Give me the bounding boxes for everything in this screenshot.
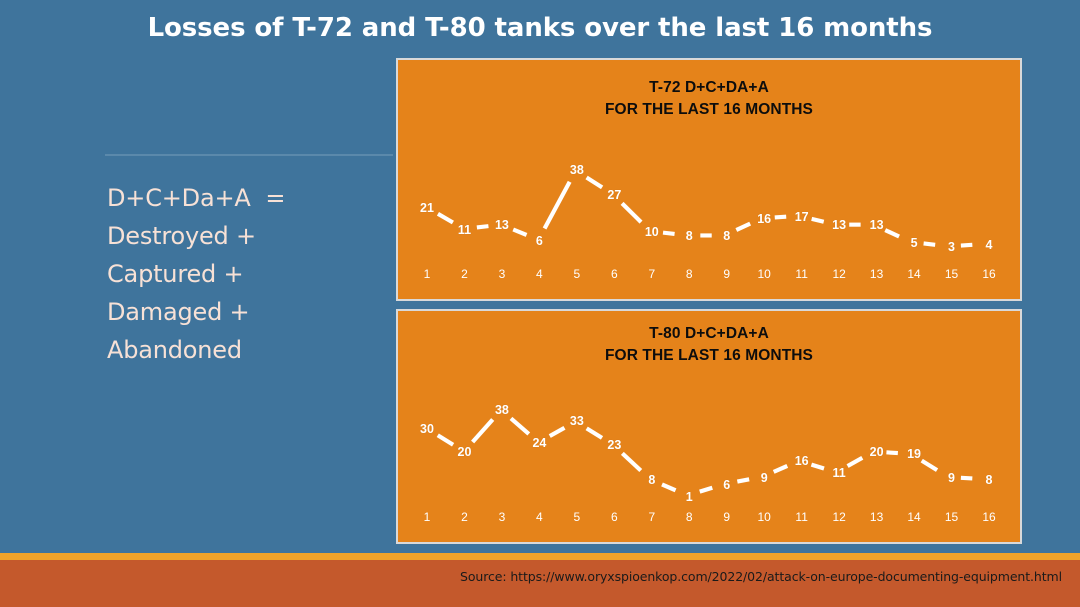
x-tick-label: 6 [611,510,618,524]
x-tick-label: 11 [795,510,807,524]
x-tick-label: 3 [499,267,506,281]
data-label: 6 [536,234,543,248]
x-tick-label: 13 [870,510,883,524]
chart-panel-t72: T-72 D+C+DA+A FOR THE LAST 16 MONTHS 123… [396,58,1022,301]
chart-plot-t72 [398,60,1020,299]
definition-line-5: Abandoned [107,332,397,370]
x-tick-label: 15 [945,267,958,281]
x-tick-label: 7 [648,510,655,524]
data-label: 13 [495,218,509,232]
data-label: 33 [570,414,584,428]
x-axis-labels-t72: 12345678910111213141516 [398,267,1020,287]
data-label: 23 [607,438,621,452]
x-axis-labels-t80: 12345678910111213141516 [398,510,1020,530]
data-label: 4 [986,238,993,252]
data-label: 8 [686,229,693,243]
data-label: 20 [870,445,884,459]
chart-panel-t80: T-80 D+C+DA+A FOR THE LAST 16 MONTHS 123… [396,309,1022,544]
x-tick-label: 9 [723,267,730,281]
left-divider [105,154,393,156]
data-label: 19 [907,447,921,461]
data-label: 8 [648,473,655,487]
data-label: 16 [795,454,809,468]
data-label: 11 [458,223,471,237]
x-tick-label: 2 [461,267,468,281]
x-tick-label: 10 [758,267,771,281]
data-label: 17 [795,210,809,224]
x-tick-label: 14 [907,510,920,524]
x-tick-label: 15 [945,510,958,524]
x-tick-label: 7 [648,267,655,281]
data-label: 30 [420,422,434,436]
footer-bar: Source: https://www.oryxspioenkop.com/20… [0,560,1080,607]
x-tick-label: 1 [424,510,431,524]
data-label: 13 [832,218,846,232]
x-tick-label: 9 [723,510,730,524]
data-label: 20 [458,445,472,459]
definition-block: D+C+Da+A = Destroyed + Captured + Damage… [107,180,397,370]
x-tick-label: 1 [424,267,431,281]
definition-line-4: Damaged + [107,294,397,332]
data-label: 3 [948,240,955,254]
data-label: 38 [570,163,584,177]
data-label: 10 [645,225,659,239]
x-tick-label: 4 [536,267,543,281]
data-label: 11 [833,466,846,480]
x-tick-label: 10 [758,510,771,524]
chart-plot-t80 [398,311,1020,542]
x-tick-label: 6 [611,267,618,281]
x-tick-label: 3 [499,510,506,524]
x-tick-label: 4 [536,510,543,524]
data-label: 13 [870,218,884,232]
slide-title: Losses of T-72 and T-80 tanks over the l… [0,14,1080,44]
data-label: 9 [761,471,768,485]
definition-line-2: Destroyed + [107,218,397,256]
x-tick-label: 16 [982,267,995,281]
data-label: 1 [686,490,693,504]
data-label: 24 [532,436,546,450]
x-tick-label: 16 [982,510,995,524]
data-label: 5 [911,236,918,250]
x-tick-label: 8 [686,267,693,281]
x-tick-label: 12 [832,267,845,281]
definition-line-1: D+C+Da+A = [107,180,397,218]
x-tick-label: 13 [870,267,883,281]
x-tick-label: 8 [686,510,693,524]
x-tick-label: 14 [907,267,920,281]
x-tick-label: 5 [574,510,581,524]
data-label: 38 [495,403,509,417]
definition-line-3: Captured + [107,256,397,294]
x-tick-label: 5 [574,267,581,281]
data-label: 8 [723,229,730,243]
source-link[interactable]: Source: https://www.oryxspioenkop.com/20… [460,569,1062,584]
data-label: 16 [757,212,771,226]
x-tick-label: 11 [795,267,807,281]
data-label: 8 [986,473,993,487]
data-label: 21 [420,201,434,215]
data-label: 6 [723,478,730,492]
footer-stripe [0,553,1080,560]
x-tick-label: 2 [461,510,468,524]
data-label: 9 [948,471,955,485]
data-label: 27 [607,188,621,202]
x-tick-label: 12 [832,510,845,524]
